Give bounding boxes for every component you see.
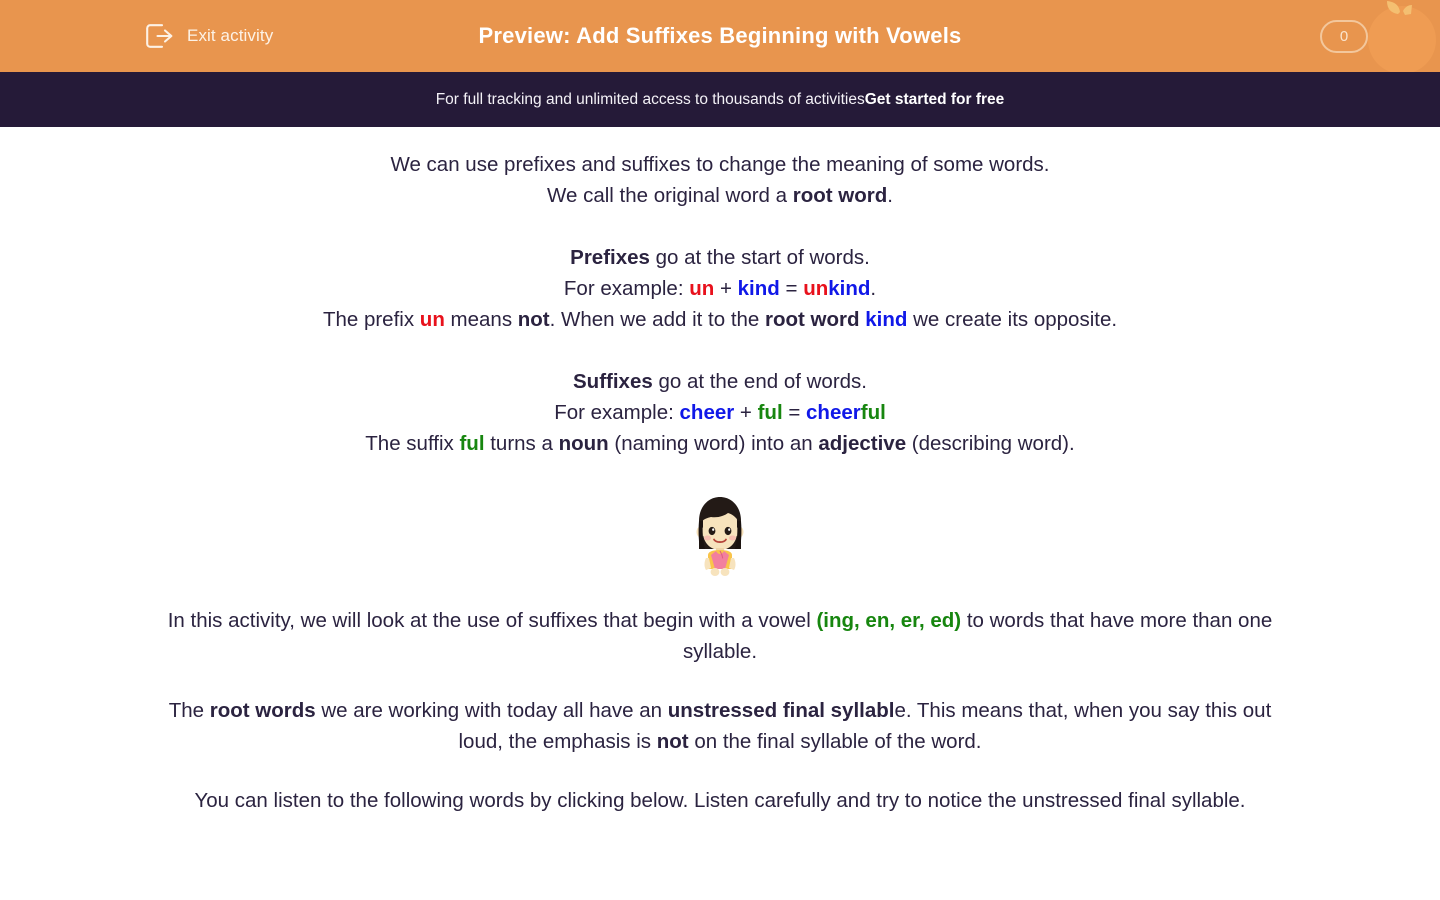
girl-character-icon: [688, 491, 752, 583]
listen-instruction-paragraph: You can listen to the following words by…: [155, 785, 1285, 816]
exit-activity-button[interactable]: Exit activity: [145, 0, 273, 72]
exit-door-arrow-icon: [145, 23, 175, 49]
intro-line-2c: .: [887, 184, 893, 207]
promo-cta-link[interactable]: Get started for free: [865, 91, 1005, 109]
root-words-term: root words: [210, 699, 316, 722]
activity-description-paragraph: In this activity, we will look at the us…: [155, 605, 1285, 667]
prefixes-line-1b: go at the start of words.: [650, 246, 870, 269]
root-word-term-2: root word: [765, 308, 860, 331]
character-illustration-wrap: [0, 491, 1440, 583]
suffix-example-lead: For example:: [554, 401, 679, 424]
score-value: 0: [1340, 28, 1348, 45]
suffix-ful-2: ful: [459, 432, 484, 455]
prefix-equals: =: [780, 277, 803, 300]
not-term: not: [518, 308, 550, 331]
trophy-icon: [1394, 23, 1415, 49]
prefix-un: un: [689, 277, 714, 300]
cheerful-ful: ful: [861, 401, 886, 424]
suffixes-term: Suffixes: [573, 370, 653, 393]
prefix-period: .: [870, 277, 876, 300]
adjective-term: adjective: [818, 432, 906, 455]
noun-term: noun: [559, 432, 609, 455]
vowel-suffix-list: (ing, en, er, ed): [816, 609, 961, 632]
spacer: [0, 335, 1440, 366]
suffix-equals: =: [783, 401, 806, 424]
prefix-expl-b: means: [445, 308, 518, 331]
prefix-expl-d: we create its opposite.: [907, 308, 1117, 331]
app-header: Exit activity Preview: Add Suffixes Begi…: [0, 0, 1440, 72]
spacer: [0, 667, 1440, 695]
not-term-2: not: [657, 730, 689, 753]
suffixes-line-1b: go at the end of words.: [653, 370, 867, 393]
root-kind-2: kind: [865, 308, 907, 331]
intro-line-2a: We call the original word a: [547, 184, 793, 207]
rootwords-d: on the final syllable of the word.: [689, 730, 982, 753]
prefix-expl-c: . When we add it to the: [550, 308, 765, 331]
spacer: [0, 757, 1440, 785]
promo-banner[interactable]: For full tracking and unlimited access t…: [0, 72, 1440, 127]
rootwords-a: The: [169, 699, 210, 722]
root-cheer: cheer: [680, 401, 735, 424]
cheerful-cheer: cheer: [806, 401, 861, 424]
unstressed-final-syllable-term: unstressed final syllabl: [668, 699, 895, 722]
prefix-un-2: un: [420, 308, 445, 331]
activity-content: We can use prefixes and suffixes to chan…: [0, 127, 1440, 816]
suffixes-paragraph: Suffixes go at the end of words. For exa…: [160, 366, 1280, 459]
prefixes-paragraph: Prefixes go at the start of words. For e…: [160, 242, 1280, 335]
root-word-term: root word: [793, 184, 888, 207]
prefix-example-lead: For example:: [564, 277, 689, 300]
prefixes-term: Prefixes: [570, 246, 650, 269]
prefix-expl-a: The prefix: [323, 308, 420, 331]
suffix-expl-a: The suffix: [365, 432, 459, 455]
root-words-paragraph: The root words we are working with today…: [155, 695, 1285, 757]
header-actions: 0: [1320, 0, 1440, 72]
spacer: [0, 211, 1440, 242]
intro-line-1: We can use prefixes and suffixes to chan…: [390, 153, 1049, 176]
activity-desc-a: In this activity, we will look at the us…: [168, 609, 817, 632]
suffix-expl-d: (describing word).: [906, 432, 1075, 455]
suffix-expl-c: (naming word) into an: [609, 432, 819, 455]
suffix-plus: +: [734, 401, 757, 424]
rootwords-b: we are working with today all have an: [316, 699, 668, 722]
trophy-button[interactable]: [1386, 18, 1423, 55]
exit-activity-label: Exit activity: [187, 26, 273, 46]
score-badge[interactable]: 0: [1320, 20, 1368, 53]
prefix-plus: +: [714, 277, 737, 300]
unkind-un: un: [803, 277, 828, 300]
root-kind: kind: [738, 277, 780, 300]
unkind-kind: kind: [828, 277, 870, 300]
suffix-expl-b: turns a: [485, 432, 559, 455]
promo-text: For full tracking and unlimited access t…: [436, 91, 865, 109]
suffix-ful: ful: [758, 401, 783, 424]
intro-paragraph: We can use prefixes and suffixes to chan…: [160, 149, 1280, 211]
